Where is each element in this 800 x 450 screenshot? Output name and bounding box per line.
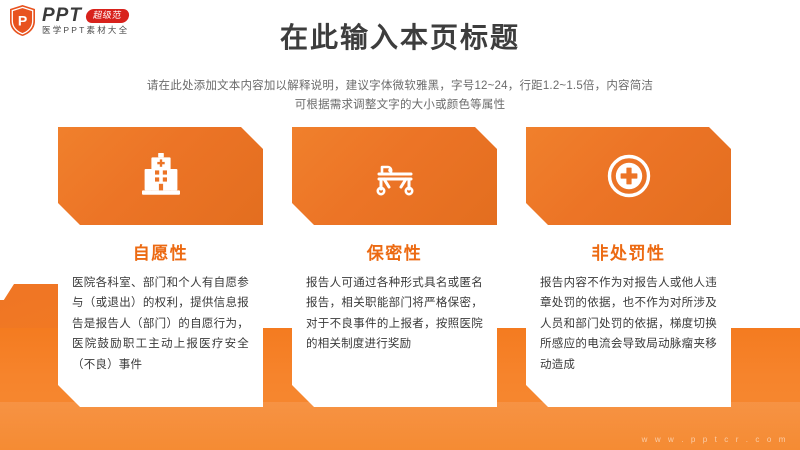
hospital-building-icon xyxy=(134,149,188,203)
svg-text:P: P xyxy=(18,13,27,29)
card-header xyxy=(526,127,731,225)
feature-card[interactable]: 自愿性 医院各科室、部门和个人有自愿参与（或退出）的权利，提供信息报告是报告人（… xyxy=(58,127,263,407)
feature-card[interactable]: 保密性 报告人可通过各种形式具名或匿名报告，相关职能部门将严格保密，对于不良事件… xyxy=(292,127,497,407)
card-text: 医院各科室、部门和个人有自愿参与（或退出）的权利，提供信息报告是报告人（部门）的… xyxy=(72,273,249,375)
card-body: 保密性 报告人可通过各种形式具名或匿名报告，相关职能部门将严格保密，对于不良事件… xyxy=(292,225,497,407)
brand-logo[interactable]: P PPT 超级范 医学PPT素材大全 xyxy=(8,4,129,37)
page-header: P PPT 超级范 医学PPT素材大全 在此输入本页标题 请在此处添加文本内容加… xyxy=(0,0,800,115)
logo-wordmark: PPT 超级范 医学PPT素材大全 xyxy=(42,6,129,35)
card-title: 自愿性 xyxy=(72,239,249,264)
feature-card-group: 自愿性 医院各科室、部门和个人有自愿参与（或退出）的权利，提供信息报告是报告人（… xyxy=(0,127,800,417)
hospital-bed-icon xyxy=(368,149,422,203)
logo-badge: 超级范 xyxy=(85,9,129,23)
page-subtitle-line-1: 请在此处添加文本内容加以解释说明，建议字体微软雅黑，字号12~24，行距1.2~… xyxy=(0,77,800,96)
card-text: 报告人可通过各种形式具名或匿名报告，相关职能部门将严格保密，对于不良事件的上报者… xyxy=(306,273,483,355)
card-text: 报告内容不作为对报告人或他人违章处罚的依据，也不作为对所涉及人员和部门处罚的依据… xyxy=(540,273,717,375)
logo-subtitle: 医学PPT素材大全 xyxy=(42,26,129,35)
logo-brand-text: PPT xyxy=(42,6,82,25)
page-subtitle-line-2: 可根据需求调整文字的大小或颜色等属性 xyxy=(0,96,800,115)
card-body: 非处罚性 报告内容不作为对报告人或他人违章处罚的依据，也不作为对所涉及人员和部门… xyxy=(526,225,731,407)
card-header xyxy=(58,127,263,225)
footer-website-url: w w w . p p t c r . c o m xyxy=(642,435,788,444)
feature-card[interactable]: 非处罚性 报告内容不作为对报告人或他人违章处罚的依据，也不作为对所涉及人员和部门… xyxy=(526,127,731,407)
card-header xyxy=(292,127,497,225)
card-body: 自愿性 医院各科室、部门和个人有自愿参与（或退出）的权利，提供信息报告是报告人（… xyxy=(58,225,263,407)
card-title: 非处罚性 xyxy=(540,239,717,264)
medical-cross-circle-icon xyxy=(602,149,656,203)
card-title: 保密性 xyxy=(306,239,483,264)
shield-icon: P xyxy=(8,4,37,37)
